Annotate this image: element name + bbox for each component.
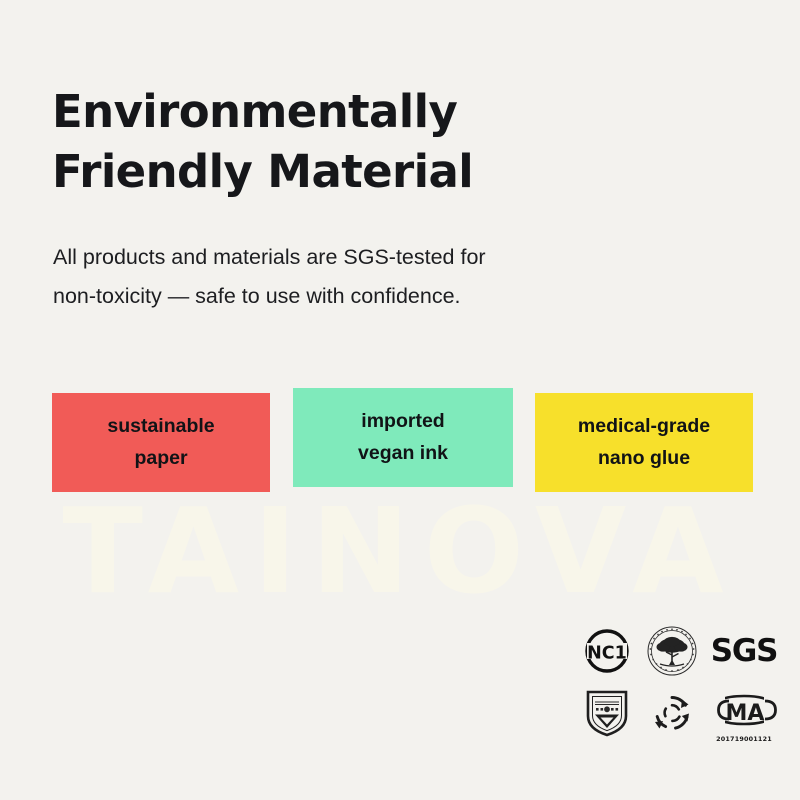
page-title-line-1: Environmentally bbox=[52, 82, 672, 141]
recycle-symbol-badge bbox=[639, 682, 705, 744]
cma-certification-badge: MA 201719001121 bbox=[705, 682, 783, 744]
material-chip-ink-line-1: imported bbox=[361, 406, 444, 437]
material-chip-ink-line-2: vegan ink bbox=[358, 438, 448, 469]
forest-tree-seal-badge bbox=[639, 620, 705, 682]
nc1-certification-badge: NC1 bbox=[575, 620, 639, 682]
page-title-line-2: Friendly Material bbox=[52, 142, 672, 201]
material-chip-ink: imported vegan ink bbox=[293, 388, 513, 487]
cma-badge-number: 201719001121 bbox=[705, 735, 783, 743]
material-chip-paper-line-2: paper bbox=[134, 443, 187, 474]
brand-watermark: TAINOVA bbox=[0, 492, 800, 610]
material-chip-glue-line-1: medical-grade bbox=[578, 411, 710, 442]
page-subtitle-line-1: All products and materials are SGS-teste… bbox=[53, 238, 693, 277]
sgs-certification-badge: SGS bbox=[705, 620, 783, 682]
material-chip-glue: medical-grade nano glue bbox=[535, 393, 753, 492]
certification-badge-grid: NC1 bbox=[575, 620, 783, 744]
page-title: Environmentally Friendly Material bbox=[52, 82, 672, 201]
material-chip-glue-line-2: nano glue bbox=[598, 443, 690, 474]
material-chip-paper: sustainable paper bbox=[52, 393, 270, 492]
page-subtitle: All products and materials are SGS-teste… bbox=[53, 238, 693, 316]
shield-certification-badge bbox=[575, 682, 639, 744]
sgs-badge-label: SGS bbox=[711, 636, 778, 667]
material-chip-paper-line-1: sustainable bbox=[107, 411, 214, 442]
poster-canvas: TAINOVA Environmentally Friendly Materia… bbox=[0, 0, 800, 800]
nc1-badge-label: NC1 bbox=[587, 644, 627, 664]
material-chip-group: sustainable paper imported vegan ink med… bbox=[52, 388, 757, 492]
cma-badge-label: MA bbox=[726, 701, 765, 726]
page-subtitle-line-2: non-toxicity — safe to use with confiden… bbox=[53, 277, 693, 316]
